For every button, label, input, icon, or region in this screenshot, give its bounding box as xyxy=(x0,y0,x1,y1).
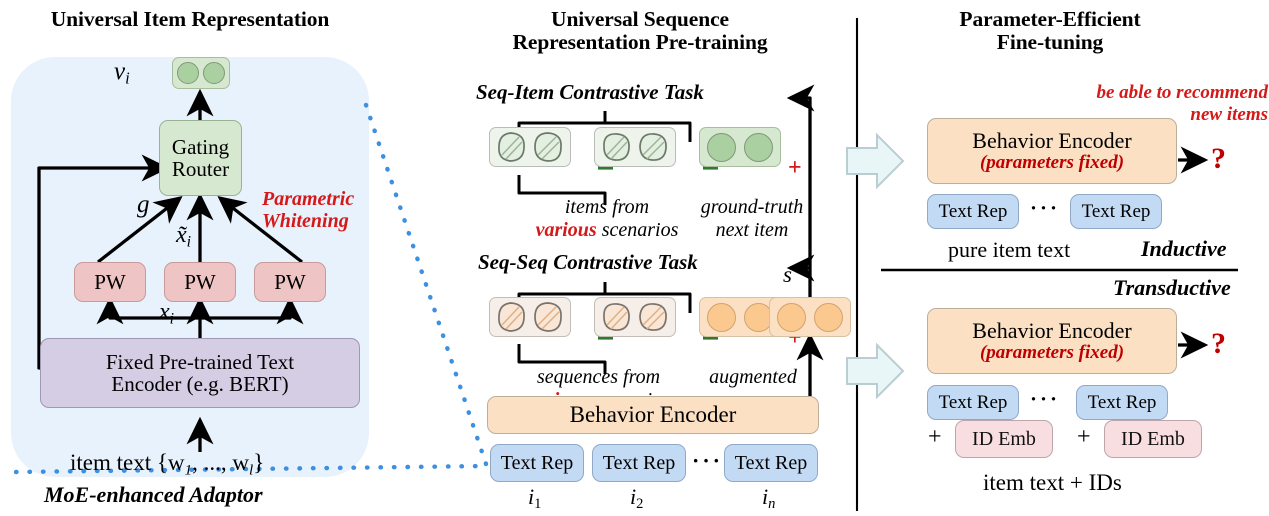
pw-box-3[interactable]: PW xyxy=(254,262,326,302)
params-fixed-inductive: (parameters fixed) xyxy=(980,153,1124,173)
item-dot xyxy=(744,133,773,162)
id-emb-box-2[interactable]: ID Emb xyxy=(1104,420,1202,458)
seq-seq-task-label: Seq-Seq Contrastive Task xyxy=(478,250,698,275)
seq-item-task-label: Seq-Item Contrastive Task xyxy=(476,80,704,105)
text-encoder-label-line1: Fixed Pre-trained Text xyxy=(106,351,294,373)
right-panel-title-line1: Parameter-Efficient xyxy=(880,8,1220,31)
text-rep-box-2[interactable]: Text Rep xyxy=(592,444,686,482)
text-rep-inductive-1[interactable]: Text Rep xyxy=(927,194,1019,229)
ground-truth-line2: next item xyxy=(672,219,832,242)
sketch-circles xyxy=(491,299,569,335)
gating-router-label-line1: Gating xyxy=(172,136,229,158)
items-from-line2: various scenarios xyxy=(517,219,697,242)
items-from-caption: items from various scenarios xyxy=(517,196,697,242)
right-panel-title: Parameter-Efficient Fine-tuning xyxy=(880,8,1220,54)
output-vector-symbol: vi xyxy=(114,58,130,89)
pw-note-line1: Parametric xyxy=(262,188,354,210)
middle-panel-title: Universal Sequence Representation Pre-tr… xyxy=(440,8,840,54)
vector-dot xyxy=(203,62,225,84)
item-index-2: i2 xyxy=(630,484,643,513)
gating-router-node[interactable]: Gating Router xyxy=(159,120,242,196)
transductive-input-caption: item text + IDs xyxy=(983,470,1122,496)
diagram-root: Universal Item Representation Universal … xyxy=(0,0,1269,516)
id-emb-box-1[interactable]: ID Emb xyxy=(955,420,1053,458)
negative-item-chip-1 xyxy=(489,127,571,167)
moe-adaptor-caption: MoE-enhanced Adaptor xyxy=(44,482,263,508)
positive-sign-item: + xyxy=(788,155,802,182)
plus-sign-2: + xyxy=(1077,424,1091,451)
parametric-whitening-note: Parametric Whitening xyxy=(262,188,354,233)
sketch-circles xyxy=(491,129,569,165)
inductive-mode-label: Inductive xyxy=(1141,236,1227,262)
behavior-encoder-transductive[interactable]: Behavior Encoder (parameters fixed) xyxy=(927,308,1177,374)
sequence-representation-chip xyxy=(769,297,851,337)
params-fixed-transductive: (parameters fixed) xyxy=(980,343,1124,363)
augmented-line1: augmented xyxy=(678,366,828,389)
behavior-encoder-pretrain[interactable]: Behavior Encoder xyxy=(487,396,819,434)
sequence-dot xyxy=(814,303,843,332)
xtilde-symbol: x̃i xyxy=(176,222,191,251)
sequence-dot xyxy=(777,303,806,332)
left-panel-title: Universal Item Representation xyxy=(8,8,372,31)
left-panel-title-line1: Universal Item Representation xyxy=(8,8,372,31)
x-symbol: xi xyxy=(159,299,174,328)
middle-panel-title-line1: Universal Sequence xyxy=(440,8,840,31)
positive-item-chip xyxy=(699,127,781,167)
behavior-encoder-inductive-label: Behavior Encoder xyxy=(972,129,1131,152)
item-index-n: in xyxy=(762,484,775,513)
negative-sequence-chip-1 xyxy=(489,297,571,337)
gate-symbol: g xyxy=(137,191,150,219)
text-rep-inductive-2[interactable]: Text Rep xyxy=(1070,194,1162,229)
negative-item-chip-2 xyxy=(594,127,676,167)
sequences-from-line1: sequences from xyxy=(496,366,701,389)
pw-box-2[interactable]: PW xyxy=(164,262,236,302)
transductive-mode-label: Transductive xyxy=(1113,275,1231,301)
inductive-input-caption: pure item text xyxy=(948,237,1070,263)
ground-truth-line1: ground-truth xyxy=(672,196,832,219)
sketch-circles xyxy=(596,299,674,335)
text-encoder-node[interactable]: Fixed Pre-trained Text Encoder (e.g. BER… xyxy=(40,338,360,408)
behavior-encoder-inductive[interactable]: Behavior Encoder (parameters fixed) xyxy=(927,118,1177,184)
s-symbol: s xyxy=(783,262,792,288)
negative-sequence-chip-2 xyxy=(594,297,676,337)
text-rep-box-1[interactable]: Text Rep xyxy=(490,444,584,482)
item-dot xyxy=(707,133,736,162)
question-mark-inductive: ? xyxy=(1211,142,1226,176)
sequence-dot xyxy=(707,303,736,332)
sketch-circles xyxy=(596,129,674,165)
behavior-encoder-transductive-label: Behavior Encoder xyxy=(972,319,1131,342)
item-text-input-label: item text {w1, ..., wl} xyxy=(70,450,264,479)
gating-router-label-line2: Router xyxy=(172,158,229,180)
question-mark-transductive: ? xyxy=(1211,327,1226,361)
inductive-annotation-line1: be able to recommend xyxy=(1036,82,1268,104)
ground-truth-caption: ground-truth next item xyxy=(672,196,832,242)
text-rep-ellipsis-middle: ··· xyxy=(692,448,723,474)
text-encoder-label-line2: Encoder (e.g. BERT) xyxy=(111,373,288,395)
output-vector-chip xyxy=(172,57,230,89)
text-rep-transductive-1[interactable]: Text Rep xyxy=(927,385,1019,420)
vector-dot xyxy=(177,62,199,84)
item-index-1: i1 xyxy=(528,484,541,513)
right-panel-title-line2: Fine-tuning xyxy=(880,31,1220,54)
pw-box-1[interactable]: PW xyxy=(74,262,146,302)
text-rep-ellipsis-inductive: ··· xyxy=(1030,196,1060,221)
text-rep-transductive-2[interactable]: Text Rep xyxy=(1076,385,1168,420)
items-from-line1: items from xyxy=(517,196,697,219)
text-rep-ellipsis-transductive: ··· xyxy=(1030,387,1060,412)
text-rep-box-n[interactable]: Text Rep xyxy=(724,444,818,482)
plus-sign-1: + xyxy=(928,424,942,451)
pw-note-line2: Whitening xyxy=(262,210,354,232)
middle-panel-title-line2: Representation Pre-training xyxy=(440,31,840,54)
